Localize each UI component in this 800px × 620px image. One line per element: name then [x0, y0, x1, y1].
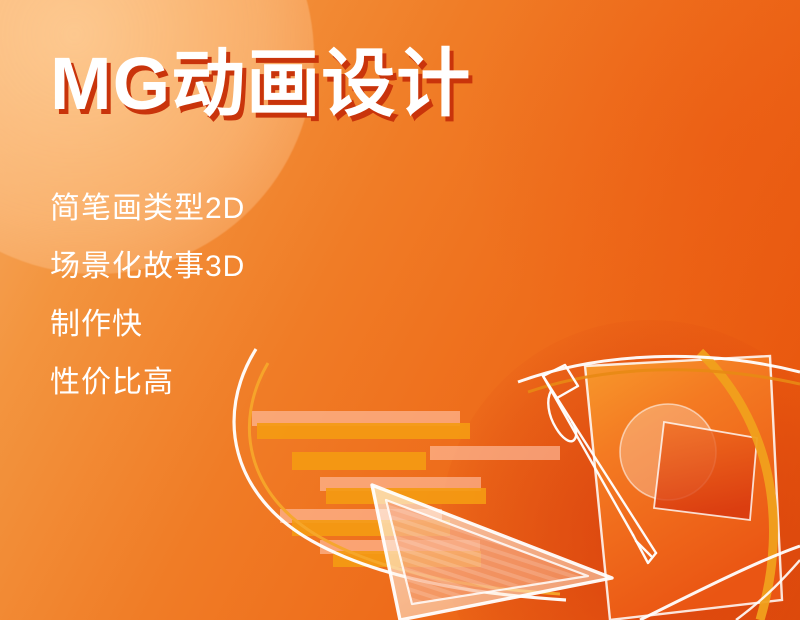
- list-item: 场景化故事3D: [50, 238, 245, 296]
- list-item: 性价比高: [50, 354, 245, 412]
- text-bar: [326, 488, 486, 504]
- text-bar: [257, 423, 470, 439]
- text-bar: [333, 551, 481, 567]
- feature-list: 简笔画类型2D 场景化故事3D 制作快 性价比高: [50, 180, 245, 412]
- text-bar: [430, 446, 560, 460]
- text-bar: [292, 520, 450, 536]
- text-bar: [292, 452, 426, 470]
- page-title: MG动画设计: [50, 47, 471, 121]
- promo-banner: MG动画设计 简笔画类型2D 场景化故事3D 制作快 性价比高: [0, 0, 800, 620]
- list-item: 简笔画类型2D: [50, 180, 245, 238]
- list-item: 制作快: [50, 296, 245, 354]
